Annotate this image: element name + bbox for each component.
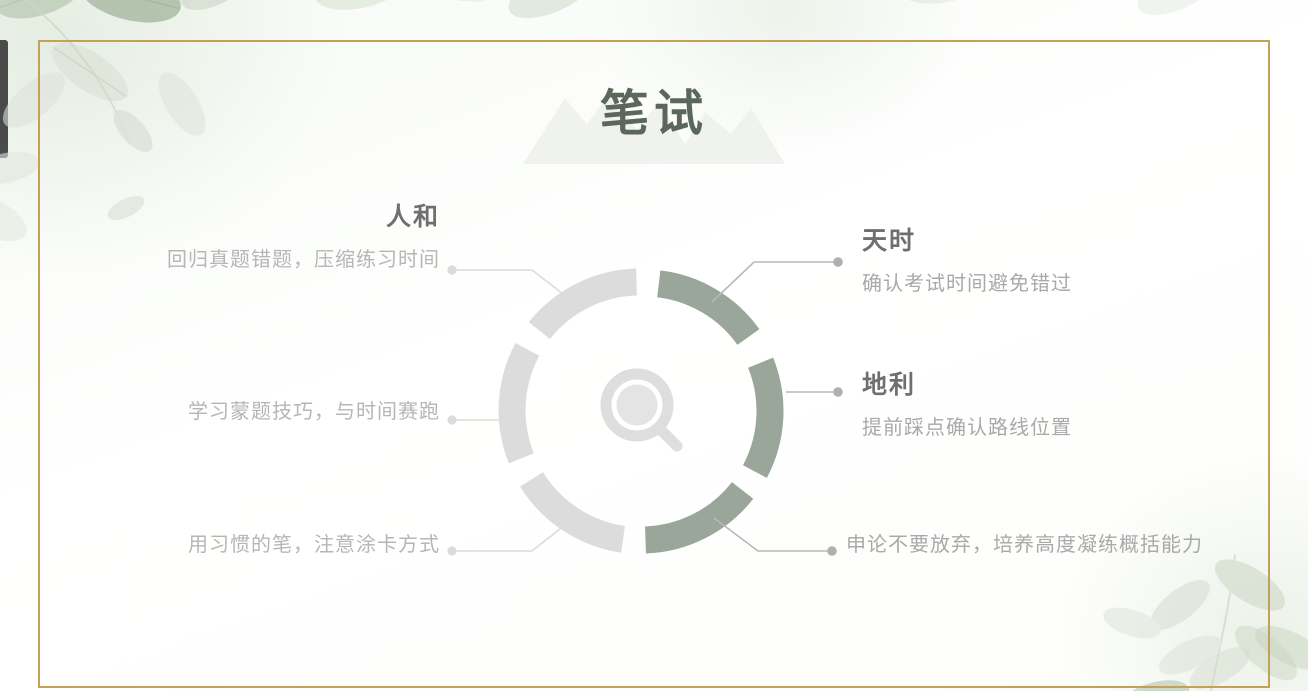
item-right-tianshi-heading: 天时 bbox=[862, 228, 1262, 256]
donut-segment-tianshi bbox=[659, 284, 749, 337]
connector-dot-right-bottom bbox=[827, 546, 837, 556]
item-right-dili: 地利 提前踩点确认路线位置 bbox=[862, 372, 1262, 441]
title-block: 笔试 bbox=[0, 58, 1308, 168]
connector-dot-right-top bbox=[833, 257, 843, 267]
item-right-shenlun-desc: 申论不要放弃，培养高度凝练概括能力 bbox=[846, 533, 1266, 558]
item-right-tianshi-desc: 确认考试时间避免错过 bbox=[862, 272, 1262, 297]
donut-segment-skill bbox=[512, 349, 527, 458]
item-left-pen: 用习惯的笔，注意涂卡方式 bbox=[40, 533, 440, 558]
page-title: 笔试 bbox=[600, 74, 708, 145]
item-left-pen-desc: 用习惯的笔，注意涂卡方式 bbox=[40, 533, 440, 558]
item-left-renhe-heading: 人和 bbox=[40, 204, 440, 232]
item-left-skill-desc: 学习蒙题技巧，与时间赛跑 bbox=[40, 400, 440, 425]
leaf-cluster-bottom-right-icon bbox=[1060, 545, 1308, 691]
item-right-tianshi: 天时 确认考试时间避免错过 bbox=[862, 228, 1262, 297]
item-right-dili-heading: 地利 bbox=[862, 372, 1262, 400]
item-right-shenlun: 申论不要放弃，培养高度凝练概括能力 bbox=[846, 533, 1266, 558]
connector-dot-right-middle bbox=[833, 387, 843, 397]
connector-dot-left-middle bbox=[447, 415, 456, 424]
donut-diagram bbox=[463, 233, 819, 589]
connector-dot-left-bottom bbox=[447, 546, 456, 555]
item-left-renhe: 人和 回归真题错题，压缩练习时间 bbox=[40, 204, 440, 273]
donut-segment-renhe bbox=[539, 282, 636, 331]
donut-segment-dili bbox=[755, 363, 770, 472]
connector-dot-left-top bbox=[447, 265, 456, 274]
item-left-renhe-desc: 回归真题错题，压缩练习时间 bbox=[40, 248, 440, 273]
slide-root: 笔试 bbox=[0, 0, 1308, 691]
donut-segment-shenlun bbox=[646, 490, 743, 540]
item-left-skill: 学习蒙题技巧，与时间赛跑 bbox=[40, 400, 440, 425]
magnifier-icon bbox=[606, 374, 677, 446]
item-right-dili-desc: 提前踩点确认路线位置 bbox=[862, 416, 1262, 441]
leaf-cluster-bottom-edge-icon bbox=[1180, 618, 1308, 691]
donut-segment-pen bbox=[532, 479, 623, 539]
